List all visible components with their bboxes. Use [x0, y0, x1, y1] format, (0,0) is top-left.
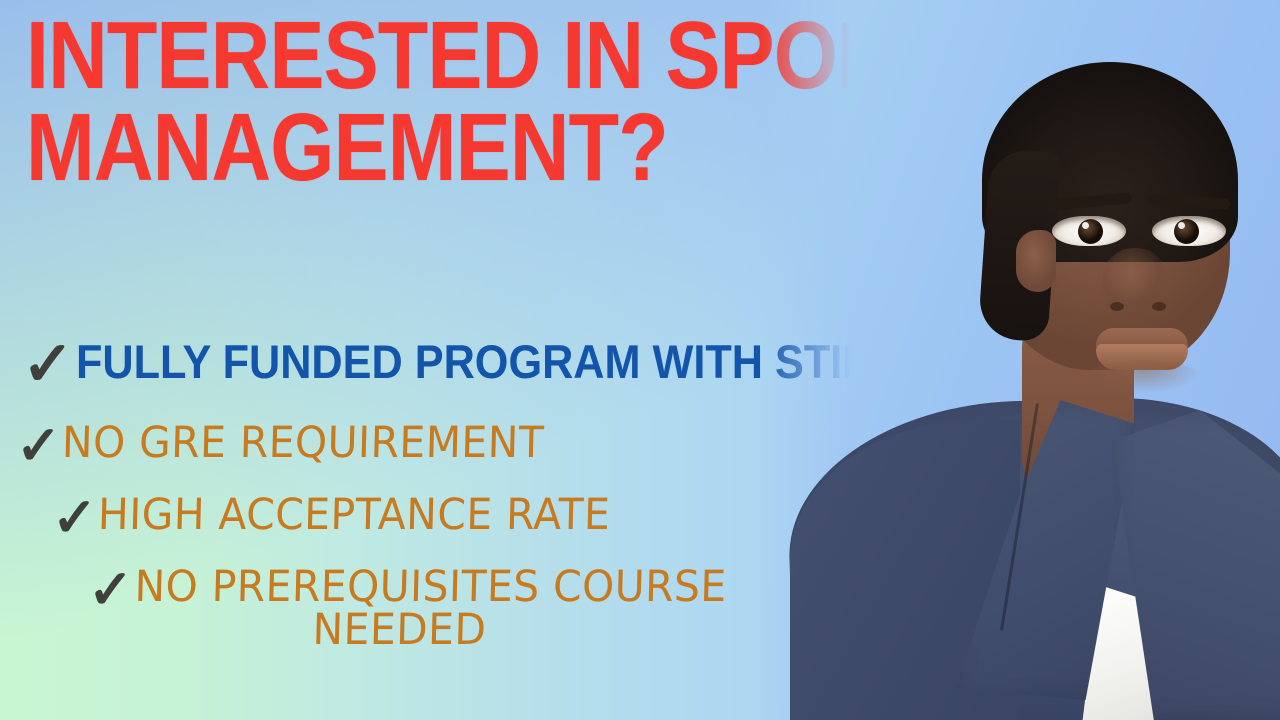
- nostril-right: [1152, 302, 1166, 311]
- chin: [1078, 360, 1208, 406]
- check-icon: ✓: [88, 563, 133, 617]
- list-item-label-wrap: NO PREREQUISITES COURSE NEEDED: [133, 566, 800, 652]
- eye-glint-left: [1082, 222, 1089, 229]
- check-icon: ✓: [22, 334, 74, 396]
- eye-glint-right: [1178, 222, 1185, 229]
- nostril-left: [1110, 302, 1124, 311]
- portrait-photo: [760, 0, 1280, 720]
- slide-canvas: INTERESTED IN SPORT MANAGEMENT? ✓ FULLY …: [0, 0, 1280, 720]
- check-icon: ✓: [52, 491, 97, 545]
- list-item-label: HIGH ACCEPTANCE RATE: [98, 494, 611, 537]
- list-item-label-line2: NEEDED: [133, 609, 666, 652]
- check-icon: ✓: [16, 419, 61, 473]
- list-item-label: NO GRE REQUIREMENT: [62, 422, 545, 465]
- ear: [1016, 230, 1056, 292]
